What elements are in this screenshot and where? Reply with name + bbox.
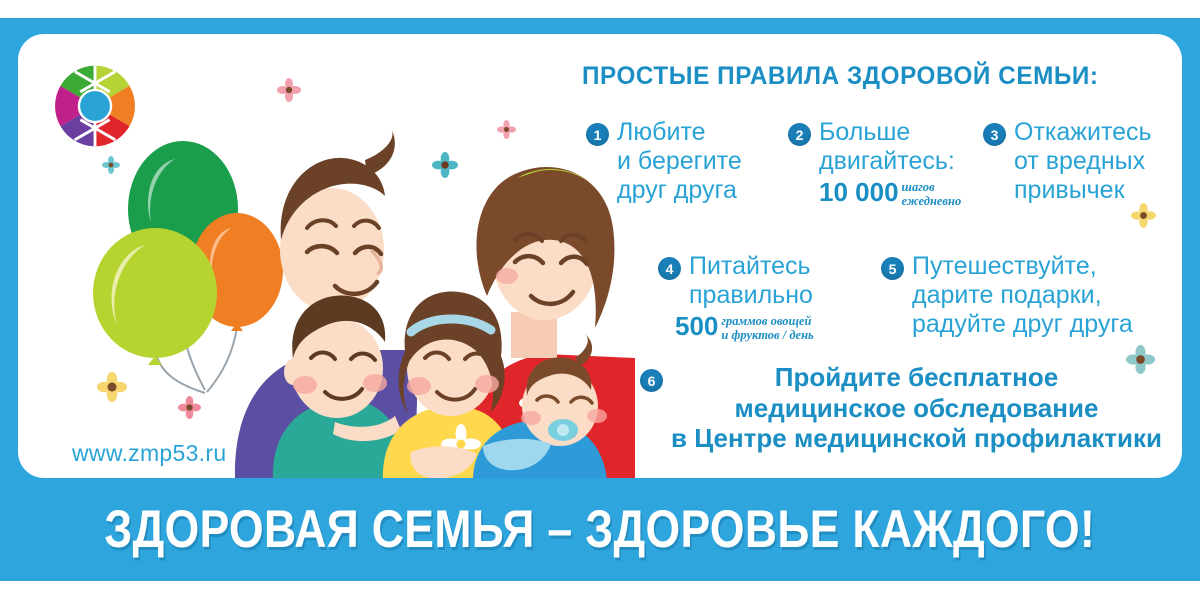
flower-teal-icon bbox=[102, 156, 120, 179]
pacifier bbox=[548, 419, 578, 441]
family-illustration bbox=[215, 100, 635, 478]
rule-amount-2: 10 000 bbox=[819, 177, 899, 207]
flower-pink-3-icon bbox=[178, 396, 201, 424]
balloon-lime bbox=[93, 228, 217, 365]
rule-badge-5: 5 bbox=[881, 257, 904, 280]
white-content-panel: ПРОСТЫЕ ПРАВИЛА ЗДОРОВОЙ СЕМЬИ: 1 Любите… bbox=[18, 34, 1182, 478]
slogan-text: ЗДОРОВАЯ СЕМЬЯ – ЗДОРОВЬЕ КАЖДОГО! bbox=[105, 499, 1096, 560]
rule-text-4: Питайтесь правильно bbox=[689, 252, 814, 310]
flower-pink-icon bbox=[277, 78, 301, 107]
rule-text-5: Путешествуйте, дарите подарки, радуйте д… bbox=[912, 252, 1133, 338]
rule-amount-4: 500 bbox=[675, 311, 718, 341]
rule-amount-row-4: 500граммов овощей и фруктов / день bbox=[675, 311, 814, 342]
slogan-banner: ЗДОРОВАЯ СЕМЬЯ – ЗДОРОВЬЕ КАЖДОГО! bbox=[0, 478, 1200, 581]
rule-note-2: шагов ежедневно bbox=[902, 180, 962, 208]
poster-root: ПРОСТЫЕ ПРАВИЛА ЗДОРОВОЙ СЕМЬИ: 1 Любите… bbox=[0, 0, 1200, 600]
website-url[interactable]: www.zmp53.ru bbox=[72, 440, 226, 467]
rule-text-1: Любите и берегите друг друга bbox=[617, 118, 742, 204]
rule-item-3: 3 Откажитесь от вредных привычек bbox=[983, 118, 1152, 204]
rule-item-6: 6 Пройдите бесплатное медицинское обслед… bbox=[640, 362, 1162, 454]
rule-item-2: 2 Больше двигайтесь: 10 000шагов ежеднев… bbox=[788, 118, 961, 208]
rule-note-4: граммов овощей и фруктов / день bbox=[721, 314, 813, 342]
flower-teal-2-icon bbox=[432, 152, 458, 183]
rule-badge-3: 3 bbox=[983, 123, 1006, 146]
rule-badge-4: 4 bbox=[658, 257, 681, 280]
rule-amount-row-2: 10 000шагов ежедневно bbox=[819, 177, 961, 208]
rule-item-1: 1 Любите и берегите друг друга bbox=[586, 118, 742, 204]
rule-item-4: 4 Питайтесь правильно 500граммов овощей … bbox=[658, 252, 814, 342]
page-title: ПРОСТЫЕ ПРАВИЛА ЗДОРОВОЙ СЕМЬИ: bbox=[582, 62, 1099, 91]
flower-yellow-icon bbox=[97, 372, 127, 407]
rule-badge-2: 2 bbox=[788, 123, 811, 146]
flower-yellow-2-icon bbox=[1131, 203, 1156, 233]
flower-pink-2-icon bbox=[497, 120, 516, 144]
rule-badge-1: 1 bbox=[586, 123, 609, 146]
rule-text-6: Пройдите бесплатное медицинское обследов… bbox=[671, 362, 1162, 454]
rule-text-3: Откажитесь от вредных привычек bbox=[1014, 118, 1152, 204]
rule-badge-6: 6 bbox=[640, 369, 663, 392]
rule-text-2: Больше двигайтесь: bbox=[819, 118, 961, 176]
rule-item-5: 5 Путешествуйте, дарите подарки, радуйте… bbox=[881, 252, 1133, 338]
